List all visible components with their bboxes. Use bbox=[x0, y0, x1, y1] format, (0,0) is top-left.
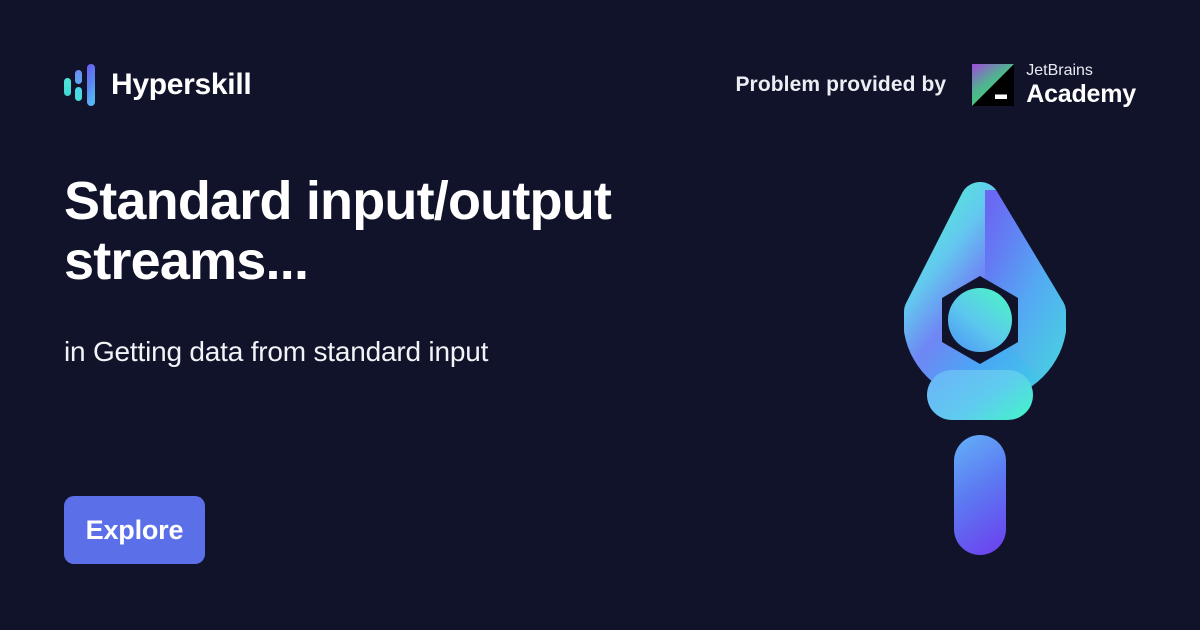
problem-card: Hyperskill Problem provided by bbox=[0, 0, 1200, 630]
card-header: Hyperskill Problem provided by bbox=[64, 55, 1136, 115]
jetbrains-academy-square-icon bbox=[972, 64, 1014, 106]
jetbrains-academy-logo[interactable]: JetBrains Academy bbox=[972, 63, 1136, 107]
provider-label: Problem provided by bbox=[735, 73, 946, 97]
hyperskill-bars-logo-icon bbox=[64, 62, 96, 108]
hyperskill-brand-name: Hyperskill bbox=[111, 70, 251, 100]
hyperskill-brand[interactable]: Hyperskill bbox=[64, 62, 251, 108]
jetbrains-wordmark-top: JetBrains bbox=[1026, 63, 1136, 79]
jetbrains-academy-wordmark: JetBrains Academy bbox=[1026, 63, 1136, 107]
problem-provider: Problem provided by bbox=[735, 63, 1136, 107]
explore-button[interactable]: Explore bbox=[64, 496, 205, 564]
hyperskill-pen-nib-illustration-icon bbox=[900, 180, 1070, 560]
page-title: Standard input/output streams... bbox=[64, 172, 764, 292]
page-subtitle: in Getting data from standard input bbox=[64, 336, 764, 368]
jetbrains-wordmark-bottom: Academy bbox=[1026, 82, 1136, 107]
